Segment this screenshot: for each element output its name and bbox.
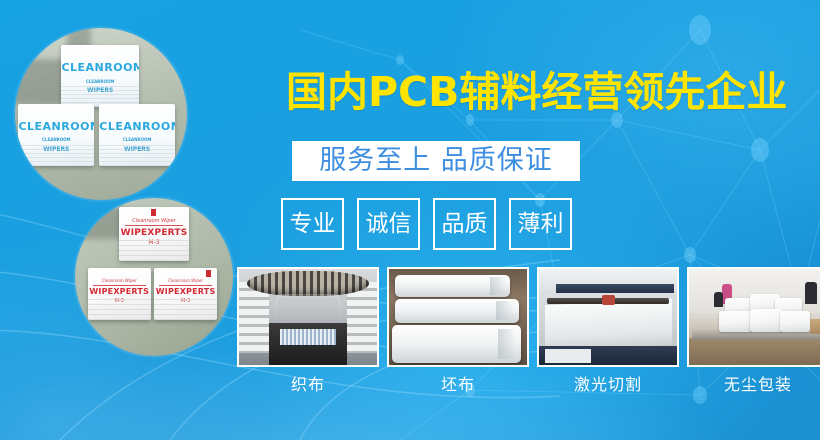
pack-seal-mark [151, 209, 156, 216]
fabric-roll [395, 299, 519, 323]
thumb-image-laser-cutting[interactable] [537, 267, 679, 367]
thumb-caption: 织布 [237, 376, 379, 394]
pack-creases [18, 145, 94, 166]
pack-folds [119, 240, 189, 261]
cleanroom-pack: CLEANROOM CLEANROOM WIPERS [18, 104, 94, 166]
subtitle-text: 服务至上 品质保证 [319, 146, 553, 176]
pack-brand-label: CLEANROOM [99, 120, 175, 133]
control-panel [545, 349, 592, 363]
feature-tag-pinzhi[interactable]: 品质 [433, 198, 496, 250]
yarn-rack-right [347, 282, 377, 353]
process-thumb-weaving[interactable]: 织布 [237, 267, 379, 394]
carton-box [810, 319, 820, 334]
packed-bale [750, 309, 783, 332]
pack-folds [88, 299, 151, 320]
pack-brand-label: WIPEXPERTS [88, 287, 151, 296]
pack-brand-label: WIPEXPERTS [119, 228, 189, 238]
packed-bale [719, 311, 752, 332]
product-photo-cleanroom: CLEANROOM CLEANROOM WIPERS CLEANROOM CLE… [15, 28, 187, 200]
worker-figure [714, 292, 724, 307]
process-thumb-greige[interactable]: 坯布 [387, 267, 529, 394]
product-photo-wipexperts: Cleanroom Wiper WIPEXPERTS M-3 Cleanroom… [75, 198, 233, 356]
fabric-output [280, 329, 335, 344]
pack-subline: CLEANROOM [99, 137, 175, 142]
photo-shadow [75, 207, 126, 239]
pack-creases [99, 145, 175, 166]
knitting-ring [247, 271, 368, 296]
pack-subline: CLEANROOM [61, 79, 138, 84]
wipexperts-pack: Cleanroom Wiper WIPEXPERTS M-3 [119, 207, 189, 261]
wipexperts-pack: Cleanroom Wiper WIPEXPERTS M-3 [154, 268, 217, 320]
process-thumb-laser-cutting[interactable]: 激光切割 [537, 267, 679, 394]
pack-brand-label: CLEANROOM [18, 120, 94, 133]
feature-tag-label: 诚信 [366, 212, 412, 237]
cleanroom-pack: CLEANROOM CLEANROOM WIPERS [99, 104, 175, 166]
pack-seal-mark [206, 270, 211, 277]
pack-rule [159, 285, 212, 286]
packed-bale [780, 311, 810, 332]
feature-tag-list: 专业 诚信 品质 薄利 [281, 198, 572, 250]
process-thumbnail-row: 织布 坯布 激光切割 [237, 267, 820, 394]
pack-brand-label: CLEANROOM [61, 61, 138, 74]
thumb-caption: 无尘包装 [687, 376, 820, 394]
cleanroom-pack: CLEANROOM CLEANROOM WIPERS [61, 45, 138, 107]
pack-rule [93, 285, 146, 286]
feature-tag-label: 专业 [290, 212, 336, 237]
subtitle-bar: 服务至上 品质保证 [292, 141, 580, 181]
cutting-bed [545, 298, 672, 351]
room-floor [689, 338, 820, 365]
promo-banner: CLEANROOM CLEANROOM WIPERS CLEANROOM CLE… [0, 0, 820, 440]
feature-tag-label: 品质 [442, 212, 488, 237]
feature-tag-label: 薄利 [518, 212, 564, 237]
feature-tag-zhuanye[interactable]: 专业 [281, 198, 344, 250]
laser-head [602, 295, 614, 306]
pack-folds [154, 299, 217, 320]
pack-rule [125, 225, 183, 226]
feature-tag-chengxin[interactable]: 诚信 [357, 198, 420, 250]
feature-tag-baoli[interactable]: 薄利 [509, 198, 572, 250]
thumb-image-cleanroom-packing[interactable] [687, 267, 820, 367]
worker-figure [805, 282, 817, 303]
pack-brand-label: WIPEXPERTS [154, 287, 217, 296]
pack-script-label: Cleanroom Wiper [154, 278, 217, 283]
thumb-image-weaving[interactable] [237, 267, 379, 367]
thumb-caption: 激光切割 [537, 376, 679, 394]
fabric-roll [392, 325, 522, 363]
process-thumb-cleanroom-packing[interactable]: 无尘包装 [687, 267, 820, 394]
pack-script-label: Cleanroom Wiper [119, 218, 189, 224]
knitting-drum [275, 294, 341, 323]
wipexperts-pack: Cleanroom Wiper WIPEXPERTS M-3 [88, 268, 151, 320]
thumb-image-greige[interactable] [387, 267, 529, 367]
banner-headline: 国内PCB辅料经营领先企业 [286, 70, 786, 114]
thumb-caption: 坯布 [387, 376, 529, 394]
pack-script-label: Cleanroom Wiper [88, 278, 151, 283]
fabric-roll [395, 275, 511, 297]
machine-gantry [556, 284, 675, 293]
pack-subline: CLEANROOM [18, 137, 94, 142]
